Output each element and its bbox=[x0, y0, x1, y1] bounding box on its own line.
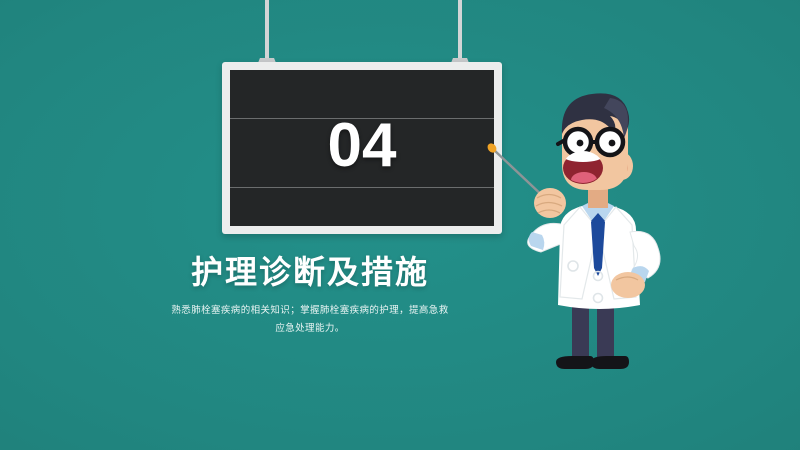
board-divider-bottom bbox=[230, 187, 494, 188]
section-number: 04 bbox=[328, 115, 397, 177]
shoes bbox=[556, 356, 629, 369]
hanger-rod-right bbox=[458, 0, 462, 64]
head bbox=[558, 93, 633, 190]
board-panel: 04 bbox=[230, 70, 494, 226]
hanger-rod-left bbox=[265, 0, 269, 64]
section-number-board: 04 bbox=[222, 62, 502, 234]
pointer-stick bbox=[486, 142, 547, 200]
doctor-illustration bbox=[470, 70, 730, 380]
slide-canvas: 04 护理诊断及措施 熟悉肺栓塞疾病的相关知识；掌握肺栓塞疾病的护理，提高急救 … bbox=[0, 0, 800, 450]
pointer-hand bbox=[534, 188, 566, 218]
